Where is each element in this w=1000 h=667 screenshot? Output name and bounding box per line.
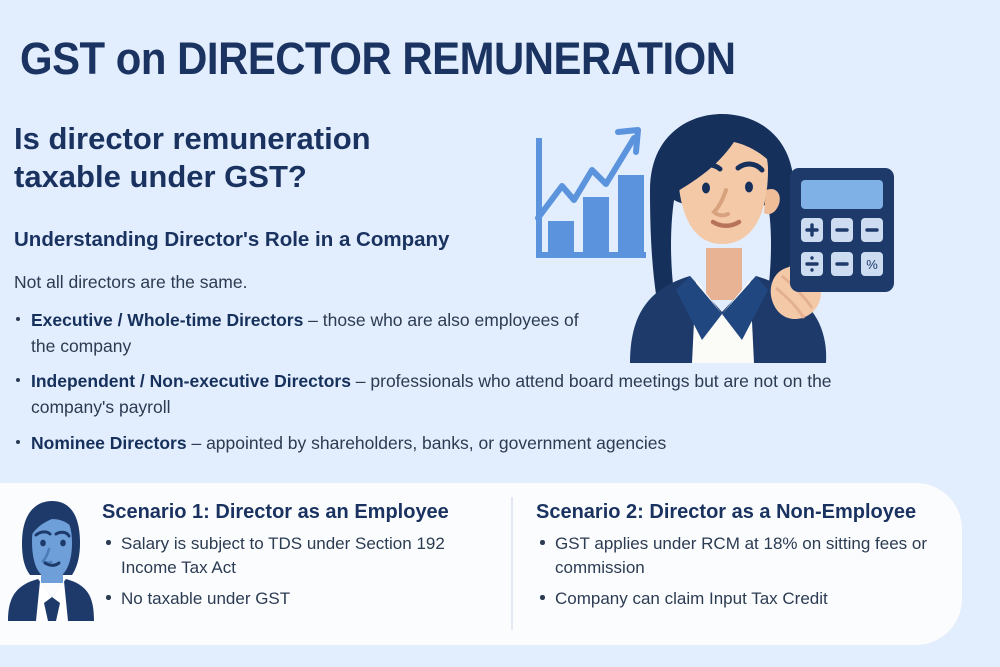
scenario-title: Scenario 1: Director as an Employee <box>102 501 492 524</box>
scenario-2-column: Scenario 2: Director as a Non-Employee G… <box>536 501 946 618</box>
list-item: Independent / Non-executive Directors – … <box>14 369 861 420</box>
male-professional-avatar <box>8 497 94 621</box>
scenario-points-list: GST applies under RCM at 18% on sitting … <box>536 532 946 611</box>
infographic-page: GST on DIRECTOR REMUNERATION Is director… <box>0 0 1000 667</box>
list-item: Company can claim Input Tax Credit <box>536 587 946 611</box>
svg-text:%: % <box>866 257 878 272</box>
question-heading: Is director remuneration taxable under G… <box>14 120 484 196</box>
director-type-term: Independent / Non-executive Directors <box>31 371 351 391</box>
list-item: GST applies under RCM at 18% on sitting … <box>536 532 946 580</box>
section-heading: Understanding Director's Role in a Compa… <box>14 228 449 252</box>
director-type-desc: – appointed by shareholders, banks, or g… <box>187 433 667 453</box>
page-title: GST on DIRECTOR REMUNERATION <box>20 36 735 81</box>
calculator-icon: % <box>790 168 894 292</box>
scenarios-card: Scenario 1: Director as an Employee Sala… <box>0 483 962 645</box>
hero-illustration: % <box>510 108 930 368</box>
lede-text: Not all directors are the same. <box>14 272 247 293</box>
list-item: Salary is subject to TDS under Section 1… <box>102 532 492 580</box>
list-item: Nominee Directors – appointed by shareho… <box>14 431 861 457</box>
list-item: No taxable under GST <box>102 587 492 611</box>
scenario-points-list: Salary is subject to TDS under Section 1… <box>102 532 492 611</box>
list-item: Executive / Whole-time Directors – those… <box>14 308 591 359</box>
director-type-term: Nominee Directors <box>31 433 187 453</box>
growth-bar-chart-icon <box>536 130 646 258</box>
scenario-title: Scenario 2: Director as a Non-Employee <box>536 501 946 524</box>
director-type-term: Executive / Whole-time Directors <box>31 310 303 330</box>
column-divider <box>511 497 513 630</box>
scenario-1-column: Scenario 1: Director as an Employee Sala… <box>102 501 492 618</box>
